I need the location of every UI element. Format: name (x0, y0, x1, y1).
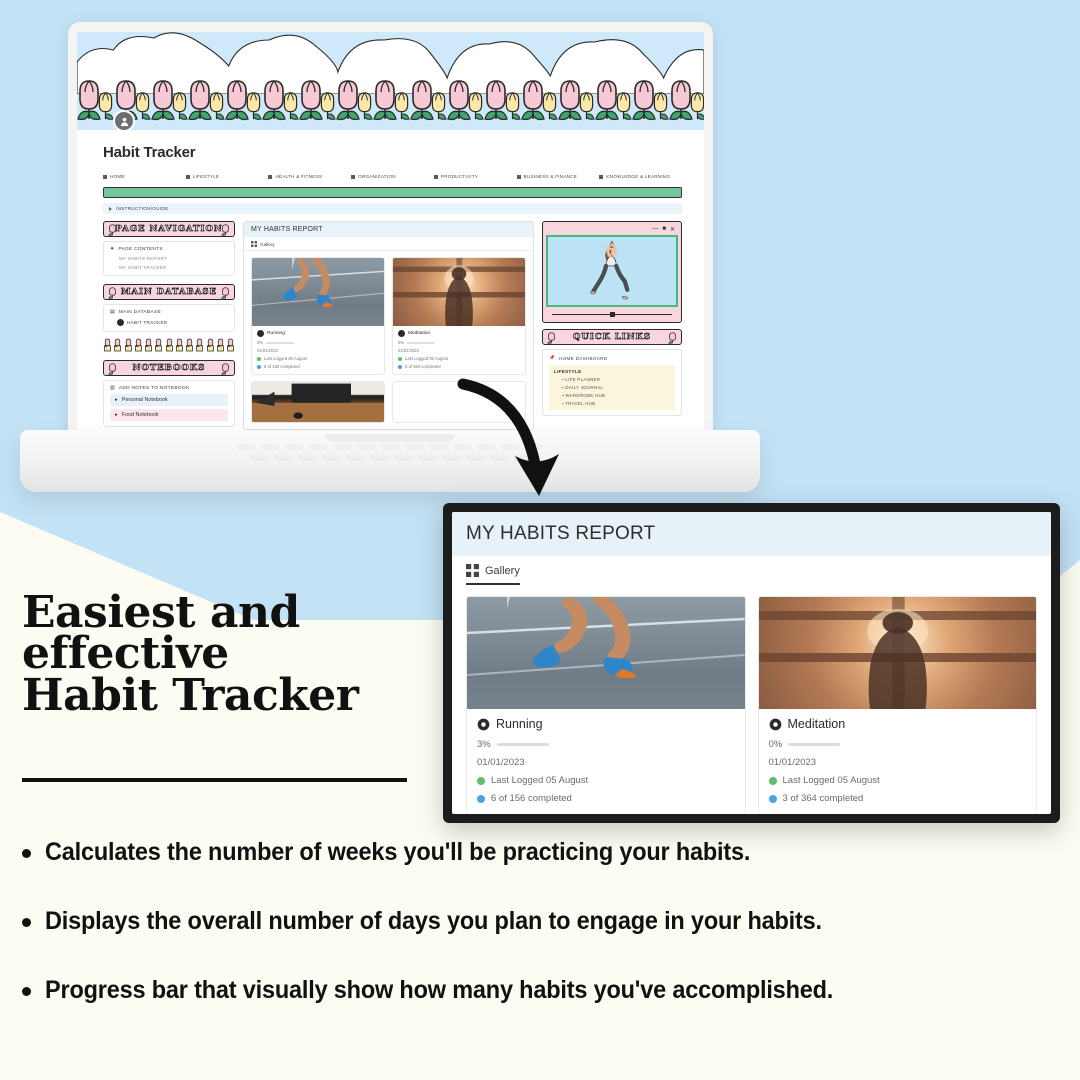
feature-text: Progress bar that visually show how many… (45, 976, 833, 1005)
habit-name: Running (477, 717, 735, 731)
laptop-keyboard (80, 444, 700, 474)
tulip-icon (245, 91, 262, 126)
tulip-icon (504, 91, 521, 126)
minimize-icon[interactable]: — (652, 226, 658, 233)
tulip-icon (652, 91, 669, 126)
close-icon[interactable]: ✕ (670, 226, 675, 233)
tulip-icon (547, 331, 556, 343)
tulip-icon (134, 91, 151, 126)
chevron-right-icon: ▸ (115, 397, 118, 403)
sidebar-column: PAGE NAVIGATION ✷ PAGE CONTENTS (103, 221, 235, 430)
main-database-item-habit-tracker[interactable]: HABIT TRACKER (117, 319, 228, 326)
gallery-tab[interactable]: Gallery (466, 564, 520, 585)
tulip-icon (208, 91, 225, 126)
headline-line-1: Easiest and (22, 592, 442, 633)
window-controls: — ■ ✕ (546, 225, 678, 235)
list-item: Progress bar that visually show how many… (22, 976, 1062, 1005)
grid-icon (251, 241, 257, 247)
tulip-icon (615, 91, 632, 126)
habit-last-logged: Last Logged 05 August (477, 775, 735, 786)
feature-text: Calculates the number of weeks you'll be… (45, 838, 750, 867)
main-database-row[interactable]: ▤ MAIN DATABASE (110, 310, 228, 315)
target-icon (117, 319, 124, 326)
habit-progress: 3% (257, 340, 379, 345)
page-contents-row[interactable]: ✷ PAGE CONTENTS (110, 247, 228, 252)
page-title: Habit Tracker (103, 144, 682, 161)
main-database-card: ▤ MAIN DATABASE HABIT TRACKER (103, 304, 235, 332)
page-contents-card: ✷ PAGE CONTENTS MY HABITS REPORT MY HABI… (103, 241, 235, 276)
tulip-divider (103, 338, 235, 357)
target-icon (769, 718, 782, 731)
tulip-icon (430, 91, 447, 126)
tulip-icon (221, 362, 230, 374)
section-header-quick-links: QUICK LINKS (542, 329, 682, 345)
tulip-icon (356, 91, 373, 126)
tulip-icon (124, 338, 133, 357)
headline-line-3: Habit Tracker (22, 675, 442, 716)
tulip-icon (171, 91, 188, 126)
tulip-icon (195, 338, 204, 357)
habit-card[interactable]: Running 3% 01/01/2023 Last Logged 05 Aug… (251, 257, 385, 375)
add-notes-row[interactable]: ▥ ADD NOTES TO NOTEBOOK (110, 386, 228, 391)
target-icon (398, 330, 405, 337)
habit-card[interactable]: Running 3% 01/01/2023 Last Logged 05 Aug… (466, 596, 746, 814)
habit-name: Meditation (398, 330, 520, 337)
headline-divider (22, 778, 407, 782)
section-header-page-navigation: PAGE NAVIGATION (103, 221, 235, 237)
tulip-icon (216, 338, 225, 357)
tulip-icon (319, 91, 336, 126)
habit-completed: 3 of 364 completed (398, 364, 520, 369)
habit-progress: 0% (769, 739, 1027, 750)
zoomed-report-window: MY HABITS REPORT Gallery (443, 503, 1060, 823)
green-divider-bar (103, 187, 682, 198)
laptop-base (20, 430, 760, 492)
runner-on-track-photo (467, 597, 745, 709)
instruction-guide-toggle[interactable]: INSTRUCTION/GUIDE (103, 203, 682, 214)
gallery-cards: Running 3% 01/01/2023 Last Logged 05 Aug… (244, 251, 533, 381)
laptop-screen: Habit Tracker HOME LIFESTYLE HEALTH & FI… (77, 32, 704, 430)
habit-completed: 3 of 364 completed (769, 793, 1027, 804)
notion-page: Habit Tracker HOME LIFESTYLE HEALTH & FI… (77, 32, 704, 430)
notebook-item-personal[interactable]: ▸ Personal Notebook (110, 394, 228, 406)
top-navigation: HOME LIFESTYLE HEALTH & FITNESS ORGANIZA… (103, 174, 682, 179)
tulip-icon (541, 91, 558, 126)
tulip-icon (103, 338, 112, 357)
section-title: MAIN DATABASE (121, 287, 217, 297)
meditation-sunset-photo (393, 258, 525, 326)
tulip-icon (144, 338, 153, 357)
notebook-item-food[interactable]: ▸ Food Notebook (110, 409, 228, 421)
habit-completed: 6 of 156 completed (477, 793, 735, 804)
feature-list: Calculates the number of weeks you'll be… (22, 838, 1062, 1045)
notebook-icon: ▥ (110, 386, 115, 391)
bullet-icon (22, 849, 31, 858)
page-contents-item-my-habit-tracker[interactable]: MY HABIT TRACKER (119, 265, 228, 270)
laptop-lid: Habit Tracker HOME LIFESTYLE HEALTH & FI… (68, 22, 713, 444)
database-icon: ▤ (110, 310, 115, 315)
video-progress-slider[interactable] (546, 310, 678, 319)
tulip-border-illustration (77, 79, 704, 126)
habit-card[interactable]: Meditation 0% 01/01/2023 Last Logged 05 … (392, 257, 526, 375)
meditation-sunset-photo (759, 597, 1037, 709)
avatar-icon (113, 110, 135, 130)
tulip-icon (97, 91, 114, 126)
section-title: QUICK LINKS (573, 332, 651, 342)
tulip-icon (221, 286, 230, 298)
tulip-icon (108, 286, 117, 298)
habit-date: 01/01/2023 (398, 348, 520, 353)
tulip-icon (108, 362, 117, 374)
runner-on-track-photo (252, 258, 384, 326)
habit-last-logged: Last Logged 05 August (398, 356, 520, 361)
report-title: MY HABITS REPORT (244, 222, 533, 237)
notebooks-card: ▥ ADD NOTES TO NOTEBOOK ▸ Personal Noteb… (103, 380, 235, 427)
section-title: NOTEBOOKS (133, 363, 206, 373)
nav-item-organization[interactable]: ORGANIZATION (351, 174, 434, 179)
nav-item-home[interactable]: HOME (103, 174, 186, 179)
tulip-icon (221, 223, 230, 235)
habit-date: 01/01/2023 (477, 757, 735, 768)
desk-workspace-photo (252, 382, 384, 422)
habit-name: Running (257, 330, 379, 337)
tulip-icon (226, 338, 235, 357)
zoomed-tab-bar: Gallery (452, 556, 1051, 585)
gallery-tab[interactable]: Gallery (244, 237, 533, 251)
tulip-icon (175, 338, 184, 357)
tulip-icon (108, 223, 117, 235)
tulip-icon (185, 338, 194, 357)
compass-icon: ✷ (110, 247, 114, 252)
section-header-main-database: MAIN DATABASE (103, 284, 235, 300)
yoga-pose-illustration (546, 235, 678, 307)
tulip-icon (282, 91, 299, 126)
nav-item-business-finance[interactable]: BUSINESS & FINANCE (517, 174, 600, 179)
habit-last-logged: Last Logged 05 August (257, 356, 379, 361)
slider-knob[interactable] (610, 312, 615, 317)
nav-item-knowledge-learning[interactable]: KNOWLEDGE & LEARNING (599, 174, 682, 179)
instruction-guide-label: INSTRUCTION/GUIDE (116, 206, 168, 211)
habit-progress: 3% (477, 739, 735, 750)
tulip-icon (467, 91, 484, 126)
target-icon (257, 330, 264, 337)
feature-text: Displays the overall number of days you … (45, 907, 822, 936)
page-cover-banner (77, 32, 704, 130)
list-item: Displays the overall number of days you … (22, 907, 1062, 936)
habit-progress: 0% (398, 340, 520, 345)
headline-line-2: effective (22, 633, 442, 674)
bullet-icon (22, 918, 31, 927)
section-title: PAGE NAVIGATION (115, 224, 222, 234)
tulip-icon (134, 338, 143, 357)
tulip-icon (578, 91, 595, 126)
tulip-icon (393, 91, 410, 126)
bullet-icon (22, 987, 31, 996)
habit-card[interactable]: Meditation 0% 01/01/2023 Last Logged 05 … (758, 596, 1038, 814)
habit-last-logged: Last Logged 05 August (769, 775, 1027, 786)
page-contents-item-my-habits-report[interactable]: MY HABITS REPORT (119, 256, 228, 261)
nav-item-productivity[interactable]: PRODUCTIVITY (434, 174, 517, 179)
pointing-arrow-icon (455, 372, 585, 502)
tulip-icon (154, 338, 163, 357)
grid-icon (466, 564, 479, 577)
tulip-icon (113, 338, 122, 357)
tulip-icon (206, 338, 215, 357)
chevron-right-icon: ▸ (115, 412, 118, 418)
habit-date: 01/01/2023 (769, 757, 1027, 768)
habit-card[interactable] (251, 381, 385, 423)
zoomed-report-header: MY HABITS REPORT (452, 512, 1051, 556)
video-player-widget: — ■ ✕ (542, 221, 682, 323)
nav-item-health-fitness[interactable]: HEALTH & FITNESS (268, 174, 351, 179)
quick-link-home-dashboard[interactable]: 📌 HOME DASHBOARD (549, 355, 675, 361)
tulip-icon (668, 331, 677, 343)
pin-icon: 📌 (549, 355, 555, 361)
habit-name: Meditation (769, 717, 1027, 731)
zoomed-gallery-cards: Running 3% 01/01/2023 Last Logged 05 Aug… (452, 584, 1051, 814)
maximize-icon[interactable]: ■ (662, 226, 666, 233)
tulip-icon (689, 91, 704, 126)
tulip-icon (165, 338, 174, 357)
zoomed-report-title: MY HABITS REPORT (466, 523, 1037, 545)
list-item: Calculates the number of weeks you'll be… (22, 838, 1062, 867)
nav-item-lifestyle[interactable]: LIFESTYLE (186, 174, 269, 179)
habit-date: 01/01/2023 (257, 348, 379, 353)
page-headline: Easiest and effective Habit Tracker (22, 592, 442, 716)
habit-completed: 6 of 156 completed (257, 364, 379, 369)
laptop-mockup: Habit Tracker HOME LIFESTYLE HEALTH & FI… (20, 22, 760, 492)
target-icon (477, 718, 490, 731)
chevron-right-icon (109, 207, 112, 211)
section-header-notebooks: NOTEBOOKS (103, 360, 235, 376)
